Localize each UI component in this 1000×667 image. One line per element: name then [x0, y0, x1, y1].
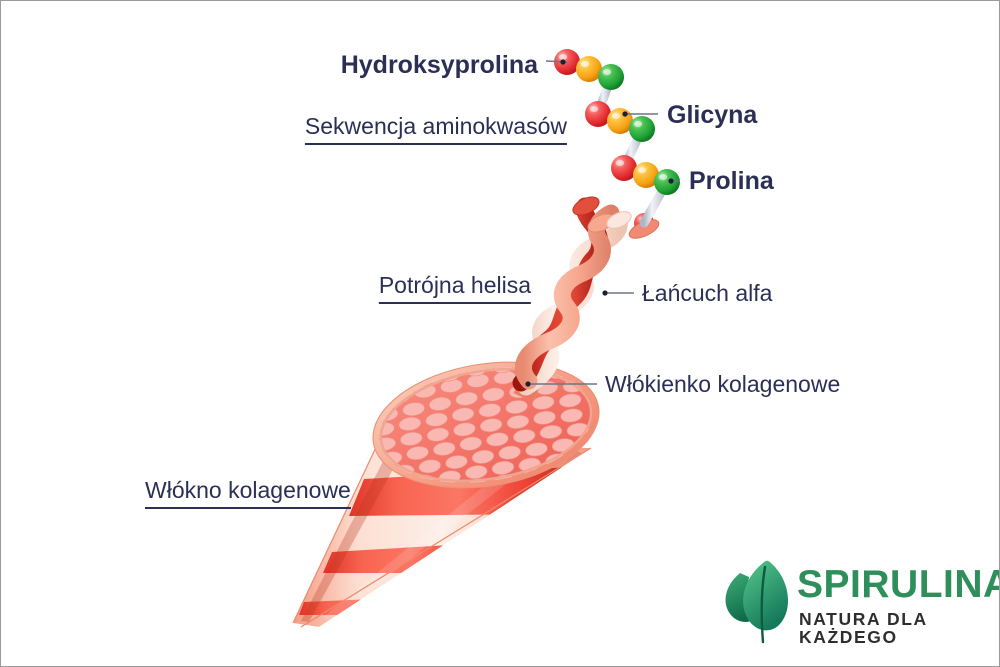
amino-acid-chain-graphic: [554, 49, 680, 223]
bead-highlight: [659, 174, 667, 180]
label-wlokno-kolagenowe: Włókno kolagenowe: [145, 479, 351, 509]
bead-highlight: [612, 113, 620, 119]
collagen-structure-infographic: HydroksyprolinaSekwencja aminokwasówGlic…: [0, 0, 1000, 667]
label-lancuch-alfa: Łańcuch alfa: [642, 282, 772, 305]
logo-brand-main: SPIRULINA: [797, 563, 1000, 606]
label-sekwencja-aminokwasow: Sekwencja aminokwasów: [305, 115, 567, 145]
leader-dot-lancuch-alfa: [602, 290, 607, 295]
leader-dot-wlokienko-kolagenowe: [525, 381, 530, 386]
bead-highlight: [590, 106, 598, 112]
logo-tagline: NATURA DLA KAŻDEGO: [799, 611, 987, 646]
amino-acid-bead: [629, 116, 655, 142]
bead-highlight: [616, 160, 624, 166]
leader-dot-hydroksyprolina: [560, 59, 565, 64]
spirulina-logo[interactable]: SPIRULINA.PL NATURA DLA KAŻDEGO: [719, 559, 987, 643]
bead-highlight: [603, 69, 611, 75]
amino-acid-bead: [585, 101, 611, 127]
label-wlokienko-kolagenowe: Włókienko kolagenowe: [605, 373, 840, 396]
bead-highlight: [634, 121, 642, 127]
label-prolina: Prolina: [689, 169, 774, 194]
leader-dot-glicyna: [622, 111, 627, 116]
bead-highlight: [559, 54, 567, 60]
bead-highlight: [581, 61, 589, 67]
label-hydroksyprolina: Hydroksyprolina: [341, 53, 538, 78]
leader-dot-prolina: [668, 178, 673, 183]
amino-acid-bead: [598, 64, 624, 90]
amino-acid-bead: [611, 155, 637, 181]
label-potrojna-helisa: Potrójna helisa: [379, 274, 531, 304]
logo-wordmark: SPIRULINA.PL: [797, 565, 1000, 604]
amino-acid-bead: [654, 169, 680, 195]
helix-strand-salmon: [523, 213, 611, 381]
bead-highlight: [638, 167, 646, 173]
label-glicyna: Glicyna: [667, 103, 757, 128]
